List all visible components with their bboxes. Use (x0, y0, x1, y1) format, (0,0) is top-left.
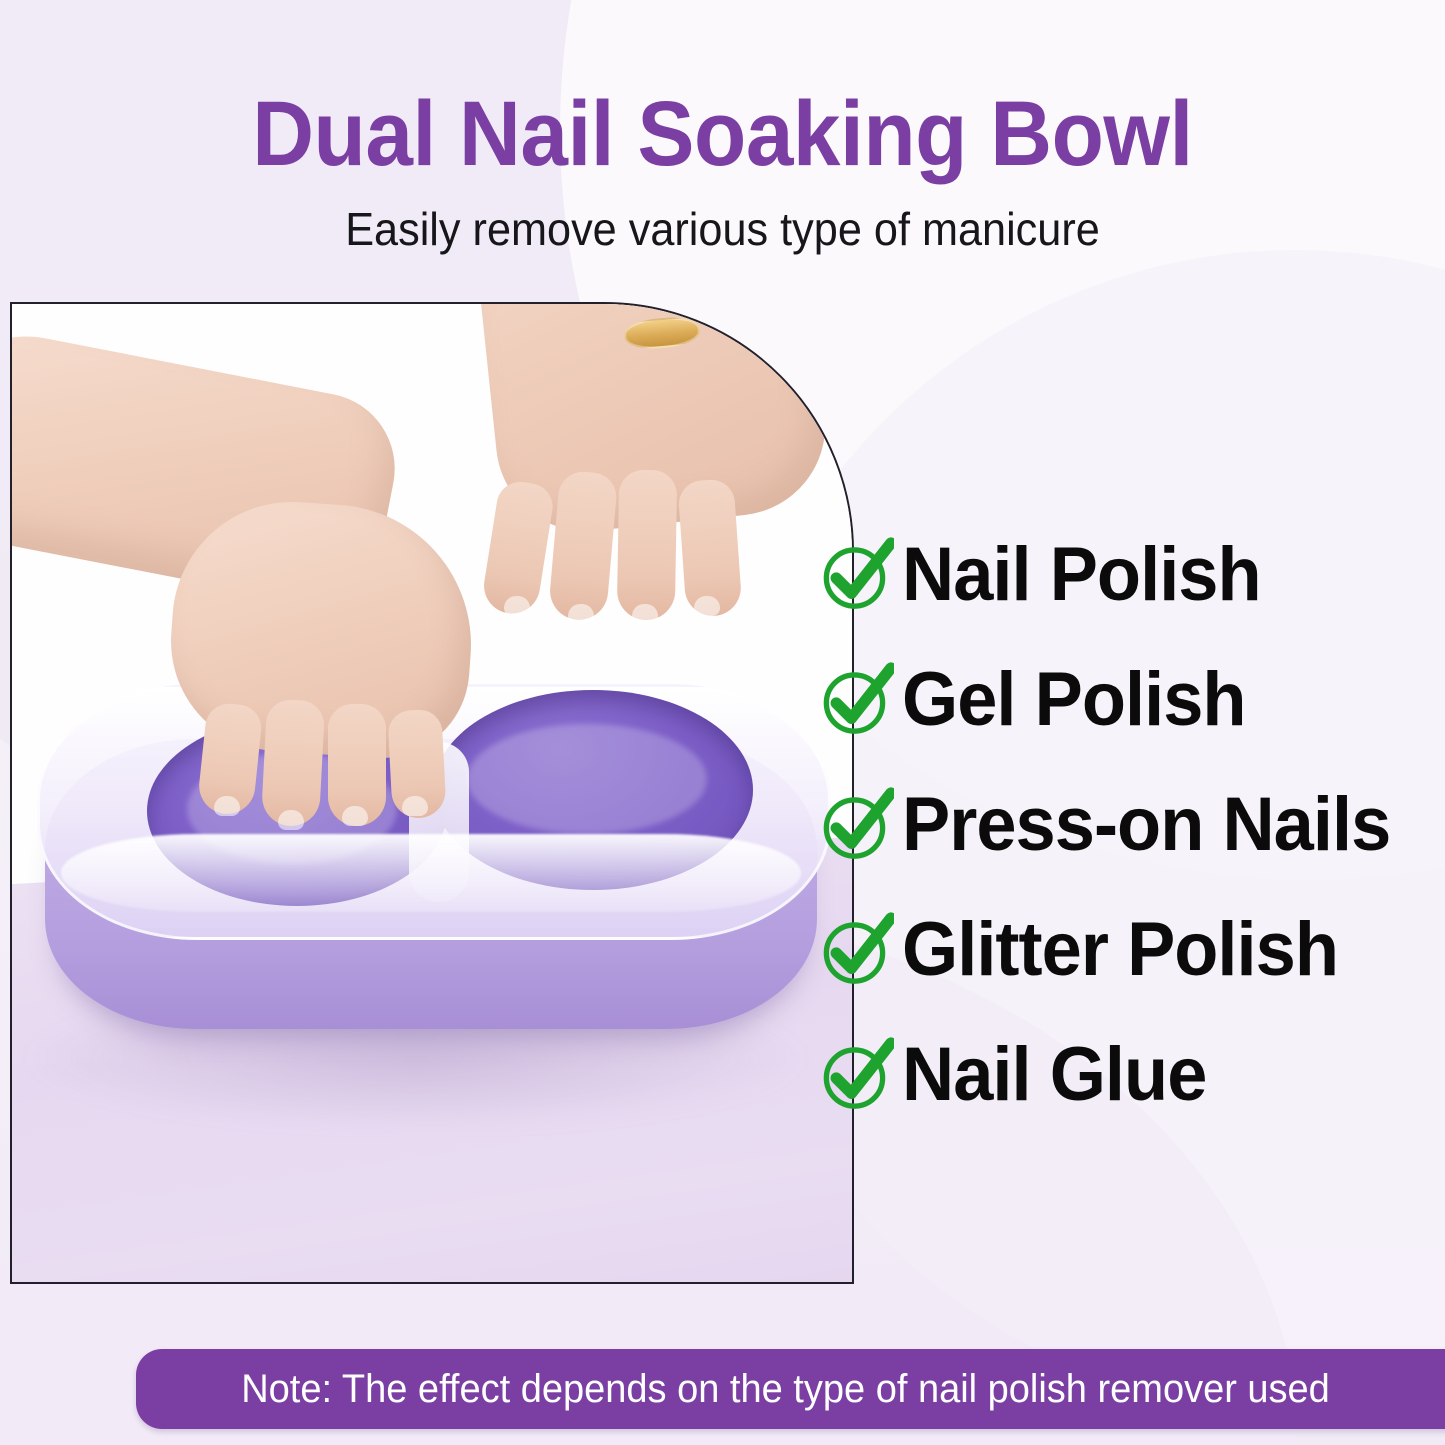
page-subtitle: Easily remove various type of manicure (43, 180, 1401, 252)
left-nail-2 (278, 810, 304, 830)
green-check-circle-icon (818, 537, 894, 613)
product-photo-inner (12, 304, 852, 1282)
right-nail-3 (632, 604, 658, 624)
product-infographic: Dual Nail Soaking Bowl Easily remove var… (0, 0, 1445, 1445)
header: Dual Nail Soaking Bowl Easily remove var… (0, 0, 1445, 252)
benefit-item-glitter-polish: Glitter Polish (818, 887, 1438, 1012)
bowl-rim-highlight (61, 834, 801, 912)
green-check-circle-icon (818, 912, 894, 988)
product-photo (10, 302, 854, 1284)
benefit-item-gel-polish: Gel Polish (818, 637, 1438, 762)
benefit-item-nail-polish: Nail Polish (818, 512, 1438, 637)
benefit-label: Press-on Nails (902, 787, 1390, 863)
right-finger-3 (617, 470, 678, 621)
benefit-label: Gel Polish (902, 662, 1246, 738)
water-sheen-right (467, 724, 707, 834)
left-nail-4 (402, 796, 428, 816)
benefit-item-press-on-nails: Press-on Nails (818, 762, 1438, 887)
right-nail-4 (694, 596, 720, 616)
left-finger-2 (261, 699, 326, 828)
green-check-circle-icon (818, 662, 894, 738)
benefit-label: Nail Polish (902, 537, 1261, 613)
green-check-circle-icon (818, 1037, 894, 1113)
benefits-list: Nail Polish Gel Polish Press-on Nails Gl… (818, 512, 1438, 1137)
benefit-label: Glitter Polish (902, 912, 1338, 988)
left-nail-3 (342, 806, 368, 826)
page-title: Dual Nail Soaking Bowl (51, 0, 1395, 180)
right-nail-2 (568, 604, 594, 624)
right-nail-1 (504, 596, 530, 616)
benefit-item-nail-glue: Nail Glue (818, 1012, 1438, 1137)
note-text: Note: The effect depends on the type of … (241, 1369, 1351, 1409)
benefit-label: Nail Glue (902, 1037, 1206, 1113)
green-check-circle-icon (818, 787, 894, 863)
left-nail-1 (214, 796, 240, 816)
note-banner: Note: The effect depends on the type of … (136, 1349, 1445, 1429)
